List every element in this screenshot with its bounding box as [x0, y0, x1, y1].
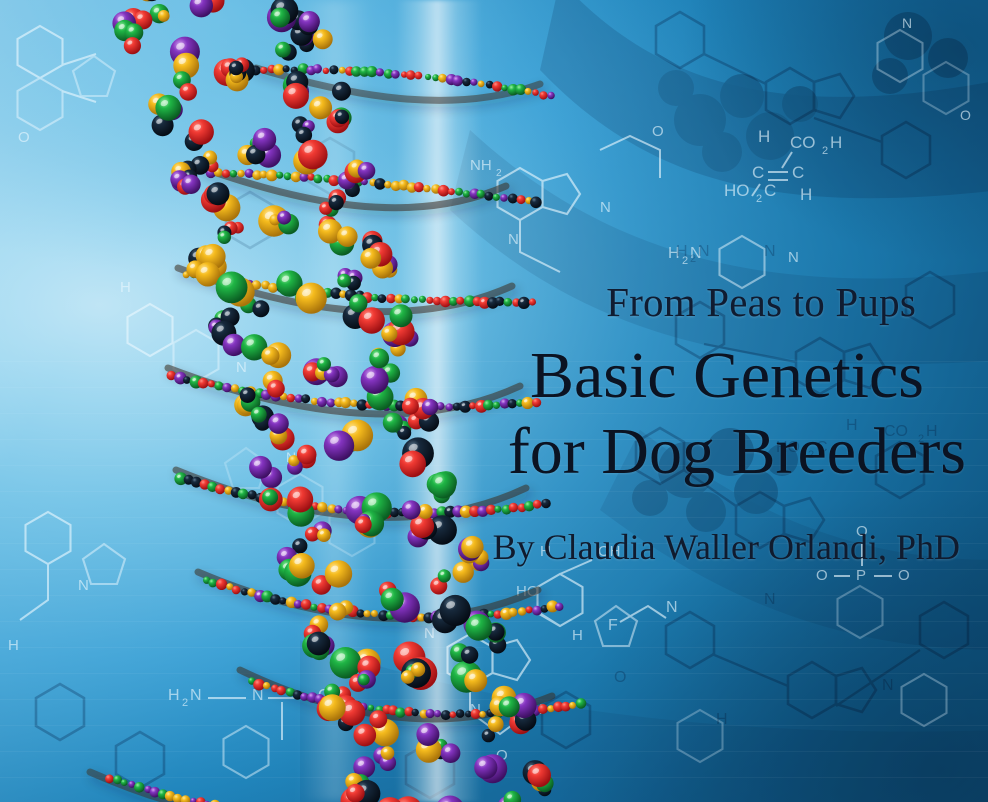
cover-text-block: From Peas to Pups Basic Genetics for Dog… [410, 282, 970, 565]
cover-author: By Claudia Waller Orlandi, PhD [410, 529, 970, 565]
cover-title-line2: for Dog Breeders [410, 417, 970, 487]
book-cover: N O H N N H NH 2 N N [0, 0, 988, 802]
cover-title-line1: Basic Genetics [410, 341, 970, 411]
cover-subtitle: From Peas to Pups [410, 282, 970, 323]
